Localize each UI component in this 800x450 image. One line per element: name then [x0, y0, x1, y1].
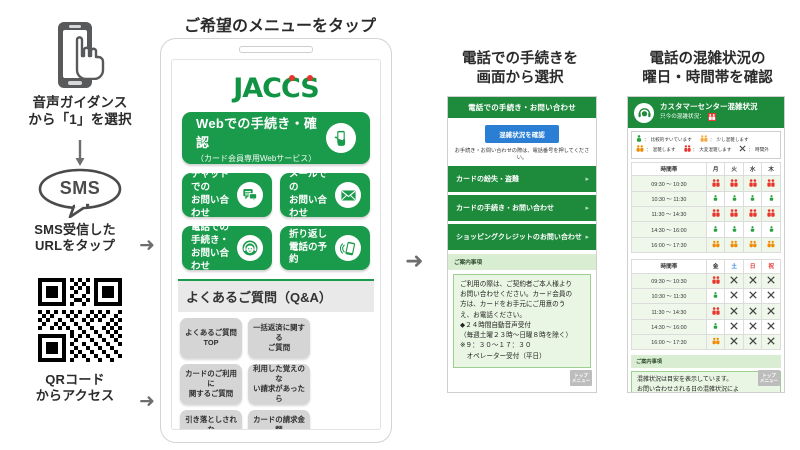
menu-row-2: 電話での手続き・ お問い合わせ [182, 226, 370, 270]
legend-item-3: ： 混雑します [636, 145, 676, 155]
x-mark-glyph [767, 337, 775, 345]
step3-caption: QRコード からアクセス [0, 372, 150, 405]
qa-button-1[interactable]: よくあるご質問TOP [180, 318, 242, 358]
person-green-glyph [750, 194, 755, 202]
person-red-icon [684, 145, 691, 155]
panel3-item-2[interactable]: カードの手続き・お問い合わせ [448, 195, 596, 221]
congestion-cell [762, 319, 781, 334]
person-red-glyph [712, 179, 720, 187]
congestion-cell [725, 335, 744, 350]
callback-reservation-button[interactable]: 折り返し 電話の予約 [280, 226, 370, 270]
person-orange-glyph [730, 240, 738, 248]
callback-reservation-label: 折り返し 電話の予約 [289, 229, 335, 267]
qa-button-1-label: よくあるご質問TOP [185, 328, 237, 348]
step1-caption: 音声ガイダンス から「1」を選択 [0, 95, 160, 129]
web-procedure-label: Webでの手続き・確認 （カード会員専用Webサービス） [196, 113, 326, 164]
congestion-table-weekday-head: 時間帯 月 火 水 木 [632, 162, 781, 175]
x-mark-icon [767, 280, 775, 286]
step3-caption-line2: からアクセス [0, 388, 150, 404]
panel3-info-heading: ご案内事項 [448, 254, 596, 270]
mail-inquiry-button[interactable]: メールでの お問い合わせ [280, 173, 370, 217]
congestion-cell [743, 273, 762, 288]
table-header-row: 時間帯 金 土 日 祝 [632, 260, 781, 273]
person-red-glyph [730, 179, 738, 187]
x-mark-icon [767, 326, 775, 332]
congestion-cell [743, 176, 762, 191]
panel3-item-1[interactable]: カードの紛失・盗難 [448, 166, 596, 192]
mail-inquiry-line2: お問い合わせ [289, 195, 335, 221]
panel3-info-line-8: オペレーター受付（平日） [460, 352, 584, 362]
person-red-icon [712, 280, 720, 286]
congestion-cell [762, 288, 781, 303]
congestion-cell [706, 273, 725, 288]
legend-label-1: ： [644, 136, 649, 144]
x-mark-icon [730, 326, 738, 332]
congestion-cell [743, 191, 762, 206]
step3-caption-line1: QRコード [0, 372, 150, 388]
x-mark-icon [739, 145, 746, 155]
person-red-icon [730, 213, 738, 219]
person-orange-glyph [767, 240, 775, 248]
x-mark-glyph [749, 307, 757, 315]
jaccs-logo-text: JACCS [233, 73, 319, 104]
x-mark-icon [749, 341, 757, 347]
panel3-info-line-3: 方は、カードをお手元にご用意のう [460, 300, 584, 310]
arrow-right-icon-sms: ➜ [139, 236, 155, 255]
person-orange-icon [749, 244, 757, 250]
check-congestion-button[interactable]: 混雑状況を確認 [485, 125, 559, 143]
person-green-glyph [769, 194, 774, 202]
time-slot-cell: 09:30 ～ 10:30 [632, 273, 707, 288]
headset-operator-icon [237, 235, 263, 261]
sms-label: SMS [30, 168, 130, 208]
person-green-glyph [713, 291, 718, 299]
col-mon: 月 [706, 162, 725, 175]
phone-procedure-line2: お問い合わせ [191, 248, 237, 274]
qr-code-svg [38, 278, 122, 362]
panel3-title: 電話での手続きを 画面から選択 [440, 50, 600, 88]
time-slot-cell: 14:30 ～ 16:00 [632, 222, 707, 237]
chat-bubble-glyph [242, 187, 258, 203]
person-orange-glyph [712, 337, 720, 345]
panel4-top-menu-line2: メニュー [760, 378, 778, 383]
person-red-icon [749, 213, 757, 219]
person-orange-icon [636, 145, 644, 155]
x-mark-glyph [730, 307, 738, 315]
panel4-header: カスタマーセンター混雑状況 只今の混雑状況： [628, 97, 784, 128]
panel3-top-menu-line2: メニュー [572, 378, 590, 383]
congestion-cell [725, 222, 744, 237]
very-crowded-glyph [708, 113, 716, 121]
congestion-cell [725, 273, 744, 288]
panel3-note: お手続き・お問い合わせの際は、電話番号を押してください。 [448, 147, 596, 166]
congestion-cell [725, 237, 744, 252]
legend-label-5: ： [748, 146, 753, 154]
time-slot-cell: 14:30 ～ 16:00 [632, 319, 707, 334]
person-orange-icon [767, 244, 775, 250]
congestion-cell [706, 222, 725, 237]
person-red-icon [767, 183, 775, 189]
congestion-cell [743, 288, 762, 303]
person-orange-glyph [636, 145, 644, 152]
col-sat: 土 [725, 260, 744, 273]
person-green-icon [732, 229, 737, 235]
step1-caption-line1: 音声ガイダンス [0, 95, 160, 112]
qa-button-2-label: 一括返済に関するご質問 [250, 323, 308, 353]
person-red-icon [767, 213, 775, 219]
table-row: 10:30 ～ 11:30 [632, 288, 781, 303]
congestion-cell [762, 176, 781, 191]
person-green-glyph [732, 225, 737, 233]
legend-item-4: ： 大変混雑します [684, 145, 732, 155]
congestion-cell [706, 176, 725, 191]
table-row: 09:30 ～ 10:30 [632, 273, 781, 288]
arrow-down-icon [74, 140, 86, 166]
x-mark-icon [730, 280, 738, 286]
phone-procedure-label: 電話での手続き・ お問い合わせ [191, 222, 237, 273]
person-red-icon [712, 311, 720, 317]
panel3-info-line-5: ◆２４時間自動音声受付 [460, 321, 584, 331]
time-slot-cell: 10:30 ～ 11:30 [632, 191, 707, 206]
congestion-cell [706, 304, 725, 319]
phone-speaker-shape [69, 25, 81, 28]
step2-caption-line2: URLをタップ [0, 238, 150, 254]
person-red-glyph [749, 179, 757, 187]
phone-home-bar-shape [68, 81, 82, 85]
person-green-icon [769, 229, 774, 235]
x-mark-glyph [730, 276, 738, 284]
x-mark-icon [730, 311, 738, 317]
sms-bubble-icon: SMS [30, 168, 130, 218]
arrow-right-icon-qr: ➜ [139, 392, 155, 411]
panel3-info-line-7: ※９：３０～１７：３０ [460, 341, 584, 351]
congestion-cell [725, 304, 744, 319]
table-row: 14:30 ～ 16:00 [632, 319, 781, 334]
phone-procedure-button[interactable]: 電話での手続き・ お問い合わせ [182, 226, 272, 270]
person-red-icon [749, 183, 757, 189]
panel4-top-menu-button[interactable]: トップ メニュー [758, 370, 780, 386]
congestion-cell [706, 207, 725, 222]
time-slot-cell: 09:30 ～ 10:30 [632, 176, 707, 191]
callback-reservation-line2: 電話の予約 [289, 242, 335, 268]
panel3-item-2-label: カードの手続き・お問い合わせ [456, 205, 554, 212]
congestion-cell [762, 207, 781, 222]
hand-tap-phone-icon [52, 22, 114, 90]
x-mark-icon [730, 341, 738, 347]
person-orange-glyph [712, 240, 720, 248]
table-header-row: 時間帯 月 火 水 木 [632, 162, 781, 175]
panel3-check-button-wrap: 混雑状況を確認 [448, 118, 596, 147]
congestion-cell [762, 222, 781, 237]
chat-inquiry-label: チャットでの お問い合わせ [191, 169, 237, 220]
congestion-cell [743, 319, 762, 334]
x-mark-icon [767, 295, 775, 301]
legend-text-4: 大変混雑します [699, 146, 731, 154]
panel3-info-line-2: お問い合わせください。カード会員の [460, 290, 584, 300]
congestion-cell [762, 335, 781, 350]
jaccs-logo-dot-1 [289, 75, 295, 81]
congestion-cell [762, 191, 781, 206]
qa-button-3-label: カードのご利用に関するご質問 [182, 369, 240, 399]
person-green-icon [750, 198, 755, 204]
col-time: 時間帯 [632, 162, 707, 175]
person-orange-icon [730, 244, 738, 250]
phone-notch [239, 46, 313, 53]
person-red-glyph [749, 209, 757, 217]
table-row: 11:30 ～ 14:30 [632, 304, 781, 319]
legend-text-5: 時間外 [755, 146, 769, 154]
chat-inquiry-line1: チャットでの [191, 169, 237, 195]
panel3-title-line2: 画面から選択 [440, 69, 600, 88]
person-green-glyph [636, 135, 642, 142]
chat-inquiry-button[interactable]: チャットでの お問い合わせ [182, 173, 272, 217]
person-green-icon [713, 295, 718, 301]
table-row: 16:00 ～ 17:30 [632, 335, 781, 350]
panel3-screen: 電話での手続き・お問い合わせ 混雑状況を確認 お手続き・お問い合わせの際は、電話… [447, 96, 597, 393]
panel4-header-sub: 只今の混雑状況： [660, 114, 705, 121]
x-mark-icon [749, 280, 757, 286]
table-row: 09:30 ～ 10:30 [632, 176, 781, 191]
person-green-glyph [713, 194, 718, 202]
qa-button-5[interactable]: 引き落としされなかった場合 [180, 410, 242, 430]
table-row: 11:30 ～ 14:30 [632, 207, 781, 222]
x-mark-glyph [730, 291, 738, 299]
table-row: 10:30 ～ 11:30 [632, 191, 781, 206]
phone-screen: JACCS Webでの手続き・確認 （カード会員専用Webサービス） [171, 59, 381, 430]
legend-text-3: 混雑します [653, 146, 676, 154]
headset-icon [634, 103, 654, 123]
phone-procedure-line1: 電話での手続き・ [191, 222, 237, 248]
phone-mockup: JACCS Webでの手続き・確認 （カード会員専用Webサービス） [160, 38, 392, 443]
panel3-header: 電話での手続き・お問い合わせ [448, 97, 596, 118]
qa-button-4[interactable]: 利用した覚えのない請求があったら [248, 364, 310, 404]
x-mark-glyph [749, 337, 757, 345]
panel4-info-heading: ご案内事項 [631, 355, 781, 368]
jaccs-logo-dot-2 [307, 75, 313, 81]
x-mark-icon [767, 311, 775, 317]
person-green-icon [769, 198, 774, 204]
x-mark-icon [749, 295, 757, 301]
slide-canvas: 音声ガイダンス から「1」を選択 SMS SMS受信した URLをタップ ➜ [0, 0, 800, 450]
menu-row-1: チャットでの お問い合わせ [182, 173, 370, 217]
legend-label-2: ： [710, 136, 715, 144]
legend-text-2: 少し混雑します [716, 136, 748, 144]
x-mark-glyph [767, 291, 775, 299]
person-green-icon [732, 198, 737, 204]
panel4-legend: ： 比較的すいています ： 少し混雑します [631, 131, 781, 159]
person-red-glyph [767, 209, 775, 217]
person-green-glyph [732, 194, 737, 202]
legend-item-5: ： 時間外 [739, 145, 768, 155]
time-slot-cell: 11:30 ～ 14:30 [632, 207, 707, 222]
panel4-title-line1: 電話の混雑状況の [620, 50, 795, 69]
step2-caption-line1: SMS受信した [0, 222, 150, 238]
panel3-info-box: ご利用の際は、ご契約者ご本人様より お問い合わせください。カード会員の 方は、カ… [453, 274, 591, 368]
mobile-hand-glyph [332, 129, 350, 147]
person-green-glyph [769, 225, 774, 233]
x-mark-icon [749, 326, 757, 332]
person-red-glyph [712, 307, 720, 315]
left-flow-column: 音声ガイダンス から「1」を選択 SMS SMS受信した URLをタップ ➜ [0, 0, 160, 450]
congestion-cell [743, 222, 762, 237]
congestion-cell [706, 237, 725, 252]
person-green-glyph [713, 322, 718, 330]
qa-button-6-label: カードの請求金額を確認する方法 [250, 415, 308, 430]
table-row: 16:00 ～ 17:30 [632, 237, 781, 252]
person-orange-icon [712, 341, 720, 347]
qa-button-grid: よくあるご質問TOP 一括返済に関するご質問 カードのご利用に関するご質問 利用… [172, 318, 380, 430]
col-fri: 金 [706, 260, 725, 273]
congestion-cell [725, 207, 744, 222]
person-red-glyph [767, 179, 775, 187]
col-wed: 水 [743, 162, 762, 175]
person-red-glyph [730, 209, 738, 217]
col-time-2: 時間帯 [632, 260, 707, 273]
congestion-cell [762, 304, 781, 319]
x-mark-icon [767, 341, 775, 347]
panel3-info-line-1: ご利用の際は、ご契約者ご本人様より [460, 280, 584, 290]
x-mark-glyph [749, 276, 757, 284]
qa-button-2[interactable]: 一括返済に関するご質問 [248, 318, 310, 358]
time-slot-cell: 11:30 ～ 14:30 [632, 304, 707, 319]
mail-envelope-icon [335, 182, 361, 208]
col-thu: 木 [762, 162, 781, 175]
congestion-cell [725, 191, 744, 206]
congestion-cell [706, 191, 725, 206]
web-procedure-line2: （カード会員専用Webサービス） [196, 153, 326, 164]
congestion-cell [762, 273, 781, 288]
mobile-hand-icon [326, 123, 356, 153]
x-mark-glyph [749, 322, 757, 330]
congestion-table-weekend-body: 09:30 ～ 10:3010:30 ～ 11:3011:30 ～ 14:301… [632, 273, 781, 350]
panel3-top-menu-button[interactable]: トップ メニュー [570, 370, 592, 386]
col-sun: 日 [743, 260, 762, 273]
person-red-icon [712, 213, 720, 219]
panel4-info-line-2: お問い合わせされる日の混雑状況によ [637, 386, 775, 393]
qa-button-5-label: 引き落としされなかった場合 [182, 415, 240, 430]
panel4-info-line-1: 混雑状況は目安を表示しています。 [637, 376, 775, 386]
x-mark-glyph [767, 276, 775, 284]
panel4-legend-row-1: ： 比較的すいています ： 少し混雑します [636, 135, 776, 145]
person-green-glyph [713, 225, 718, 233]
panel3-info-line-4: え、お電話ください。 [460, 311, 584, 321]
person-red-glyph [712, 276, 720, 284]
step2-caption: SMS受信した URLをタップ [0, 222, 150, 255]
web-procedure-button[interactable]: Webでの手続き・確認 （カード会員専用Webサービス） [182, 112, 370, 164]
legend-item-1: ： 比較的すいています [636, 135, 692, 145]
congestion-cell [706, 335, 725, 350]
phone-panel-title: ご希望のメニューをタップ [160, 12, 400, 36]
panel4-header-text: カスタマーセンター混雑状況 只今の混雑状況： [660, 102, 758, 123]
arrow-right-icon-to-panel3: ➜ [405, 250, 423, 272]
panel3-title-line1: 電話での手続きを [440, 50, 600, 69]
qa-section-heading: よくあるご質問（Q&A） [178, 279, 374, 312]
callback-phone-glyph [340, 240, 357, 257]
person-green-glyph [750, 225, 755, 233]
web-procedure-line1: Webでの手続き・確認 [196, 113, 326, 151]
person-red-glyph [712, 209, 720, 217]
person-red-icon [730, 183, 738, 189]
panel4-header-sub-row: 只今の混雑状況： [660, 113, 758, 124]
congestion-cell [762, 237, 781, 252]
panel3-item-3-label: ショッピングクレジットのお問い合わせ [456, 234, 582, 241]
col-tue: 火 [725, 162, 744, 175]
congestion-cell [743, 304, 762, 319]
qr-code-icon [38, 278, 122, 362]
congestion-cell [725, 319, 744, 334]
panel4-header-title: カスタマーセンター混雑状況 [660, 102, 758, 112]
callback-reservation-line1: 折り返し [289, 229, 335, 242]
x-mark-glyph [730, 322, 738, 330]
mail-inquiry-label: メールでの お問い合わせ [289, 169, 335, 220]
mail-envelope-glyph [340, 187, 357, 204]
x-mark-icon [730, 295, 738, 301]
person-red-glyph [684, 145, 691, 152]
menu-button-grid: Webでの手続き・確認 （カード会員専用Webサービス） [172, 112, 380, 270]
x-mark-glyph [749, 291, 757, 299]
panel4-title: 電話の混雑状況の 曜日・時間帯を確認 [620, 50, 795, 88]
chat-inquiry-line2: お問い合わせ [191, 195, 237, 221]
person-green-icon [750, 229, 755, 235]
mail-inquiry-line1: メールでの [289, 169, 335, 195]
person-orange-light-icon [700, 135, 708, 145]
congestion-cell [706, 319, 725, 334]
chat-bubble-icon [237, 182, 263, 208]
congestion-cell [743, 207, 762, 222]
person-orange-light-glyph [700, 135, 708, 142]
time-slot-cell: 16:00 ～ 17:30 [632, 335, 707, 350]
person-orange-glyph [749, 240, 757, 248]
panel4-screen: カスタマーセンター混雑状況 只今の混雑状況： [627, 96, 785, 393]
congestion-cell [725, 176, 744, 191]
x-mark-glyph [767, 322, 775, 330]
legend-item-2: ： 少し混雑します [700, 135, 749, 145]
x-mark-icon [749, 311, 757, 317]
congestion-cell [706, 288, 725, 303]
time-slot-cell: 10:30 ～ 11:30 [632, 288, 707, 303]
panel3-item-1-label: カードの紛失・盗難 [456, 176, 519, 183]
person-green-icon [713, 198, 718, 204]
callback-phone-icon [335, 235, 361, 261]
qa-button-6[interactable]: カードの請求金額を確認する方法 [248, 410, 310, 430]
congestion-cell [725, 288, 744, 303]
qa-button-3[interactable]: カードのご利用に関するご質問 [180, 364, 242, 404]
congestion-cell [743, 237, 762, 252]
headset-operator-glyph [241, 239, 259, 257]
panel3-item-3[interactable]: ショッピングクレジットのお問い合わせ [448, 224, 596, 250]
step1-caption-line2: から「1」を選択 [0, 112, 160, 129]
person-green-icon [713, 229, 718, 235]
table-row: 14:30 ～ 16:00 [632, 222, 781, 237]
headset-glyph [637, 105, 652, 120]
very-crowded-icon [708, 113, 716, 124]
qa-button-4-label: 利用した覚えのない請求があったら [250, 364, 308, 404]
legend-text-1: 比較的すいています [651, 136, 692, 144]
col-hol: 祝 [762, 260, 781, 273]
panel3-info-line-6: （毎週土曜２３時～日曜８時を除く） [460, 331, 584, 341]
panel4-title-line2: 曜日・時間帯を確認 [620, 69, 795, 88]
congestion-table-weekend: 時間帯 金 土 日 祝 09:30 ～ 10:3010:30 ～ 11:3011… [631, 259, 781, 350]
time-slot-cell: 16:00 ～ 17:30 [632, 237, 707, 252]
congestion-cell [743, 335, 762, 350]
legend-label-4: ： [693, 146, 698, 154]
panel4-legend-row-2: ： 混雑します ： 大変混雑します [636, 145, 776, 155]
x-mark-glyph [767, 307, 775, 315]
congestion-table-weekend-head: 時間帯 金 土 日 祝 [632, 260, 781, 273]
x-mark-glyph [730, 337, 738, 345]
person-orange-icon [712, 244, 720, 250]
hand-pointer-icon [68, 34, 108, 80]
